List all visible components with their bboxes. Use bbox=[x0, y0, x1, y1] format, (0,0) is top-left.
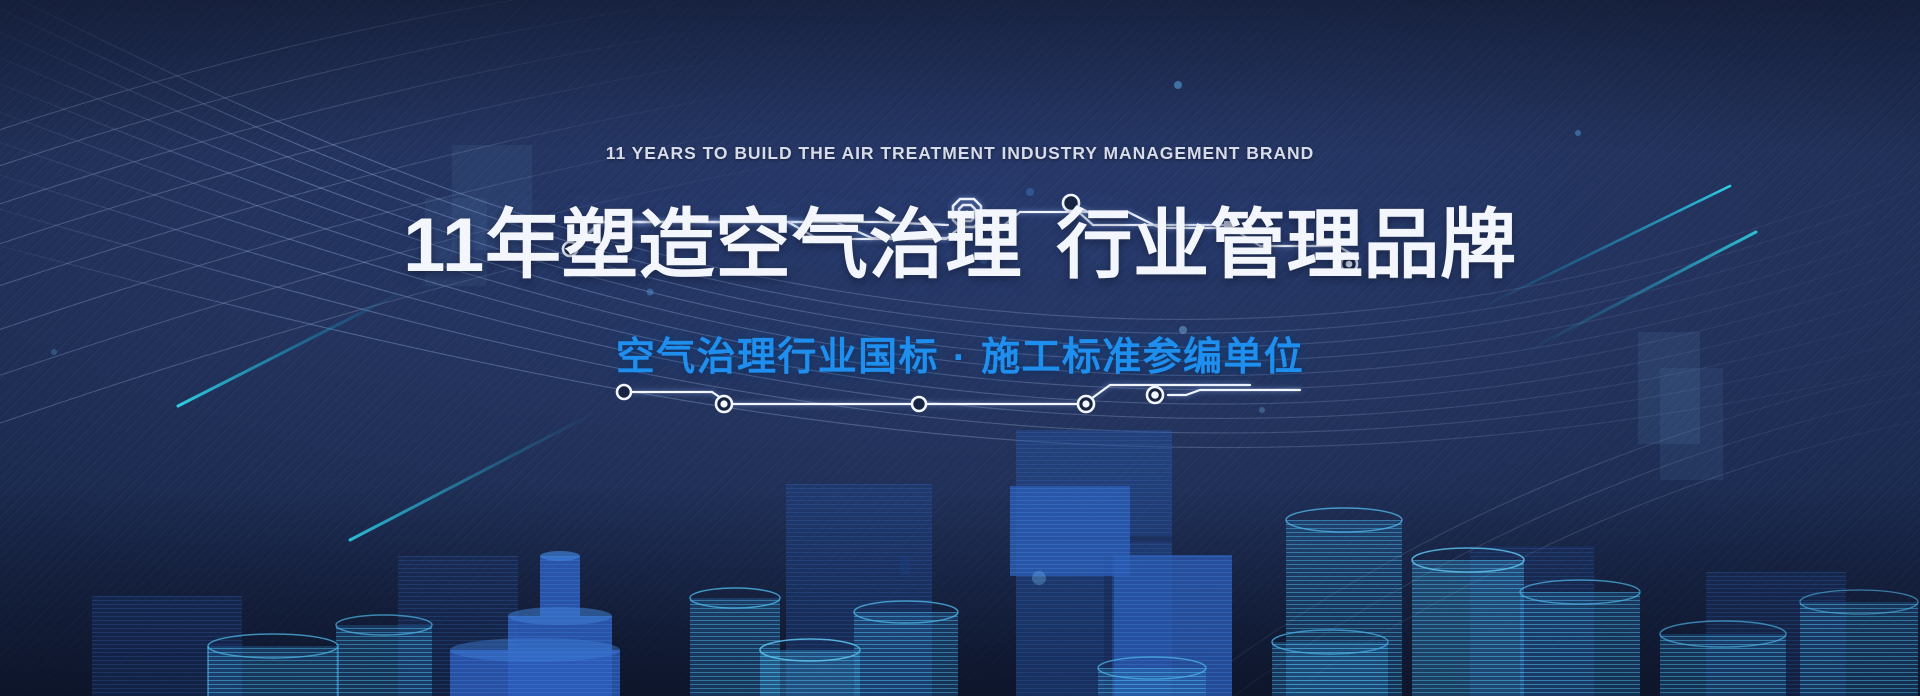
eyebrow-tagline: 11 YEARS TO BUILD THE AIR TREATMENT INDU… bbox=[0, 143, 1920, 164]
hero-banner: 11 YEARS TO BUILD THE AIR TREATMENT INDU… bbox=[0, 0, 1920, 696]
page-title: 11年塑造空气治理行业管理品牌 bbox=[0, 208, 1920, 284]
page-subtitle: 空气治理行业国标·施工标准参编单位 bbox=[0, 338, 1920, 377]
hero-text-block: 11 YEARS TO BUILD THE AIR TREATMENT INDU… bbox=[0, 0, 1920, 377]
headline-part-right: 行业管理品牌 bbox=[1056, 203, 1517, 288]
subtitle-part-left: 空气治理行业国标 bbox=[616, 336, 939, 379]
subtitle-separator-dot: · bbox=[939, 338, 981, 377]
subtitle-part-right: 施工标准参编单位 bbox=[981, 336, 1304, 379]
headline-part-left: 11年塑造空气治理 bbox=[403, 203, 1022, 288]
